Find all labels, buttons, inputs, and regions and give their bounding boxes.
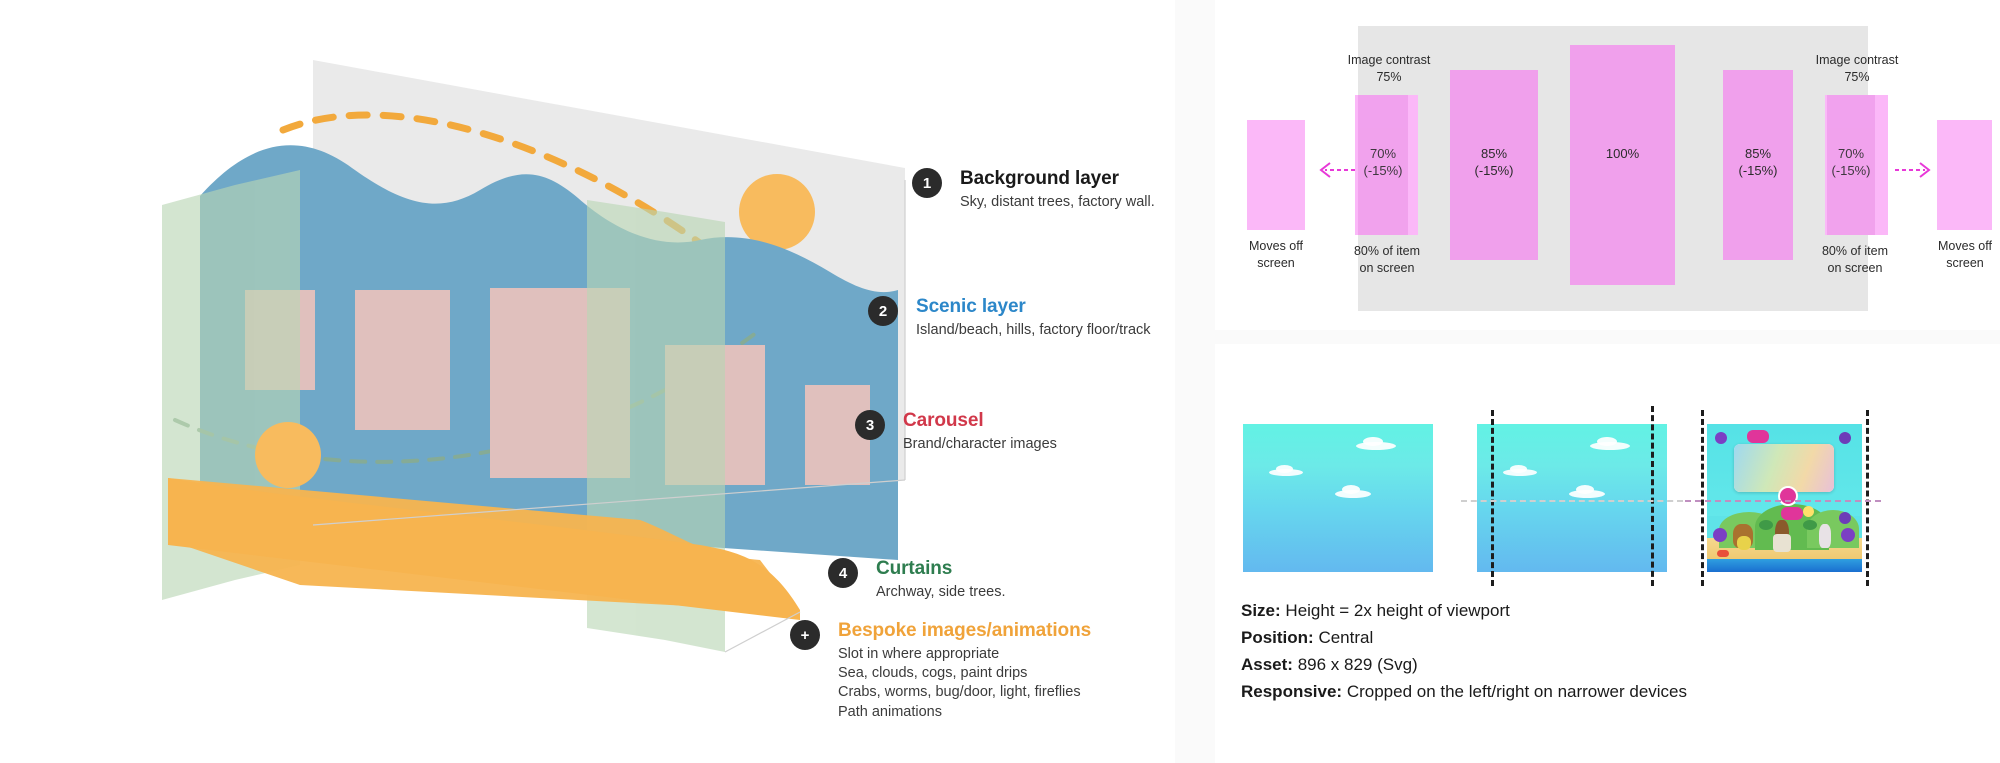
callout-badge: 3 bbox=[855, 410, 885, 440]
carousel-next-button[interactable] bbox=[1841, 528, 1855, 542]
thumbnail-plain-sky[interactable] bbox=[1243, 424, 1433, 572]
spec-row-position: Position: Central bbox=[1241, 625, 1961, 652]
carousel-spec-card: Moves off screen 70% (-15%) 80% of item … bbox=[1215, 0, 2000, 330]
thumbnail-sky-with-crop-guides[interactable] bbox=[1477, 424, 1667, 572]
carousel-contrast-note-left: Image contrast 75% bbox=[1335, 52, 1443, 86]
callout-badge: 1 bbox=[912, 168, 942, 198]
sun-background bbox=[739, 174, 815, 250]
spec-value: Cropped on the left/right on narrower de… bbox=[1342, 682, 1687, 701]
cloud-icon bbox=[1276, 465, 1293, 473]
layer-breakdown-panel: 1 Background layer Sky, distant trees, f… bbox=[0, 0, 1175, 763]
spec-key: Asset: bbox=[1241, 655, 1293, 674]
character-figure bbox=[1819, 524, 1831, 548]
callout-curtains[interactable]: 4 Curtains Archway, side trees. bbox=[828, 558, 1005, 602]
callout-badge: 2 bbox=[868, 296, 898, 326]
centre-guide-horizontal-illustration bbox=[1685, 500, 1881, 502]
spec-row-asset: Asset: 896 x 829 (Svg) bbox=[1241, 652, 1961, 679]
callout-badge-plus: + bbox=[790, 620, 820, 650]
carousel-item-label: 85% (-15%) bbox=[1450, 145, 1538, 179]
carousel-item-second-right[interactable]: 85% (-15%) bbox=[1723, 70, 1793, 260]
carousel-prev-button[interactable] bbox=[1713, 528, 1727, 542]
callout-subtitle: Sky, distant trees, factory wall. bbox=[960, 193, 1155, 212]
carousel-item-label: 70% (-15%) bbox=[1358, 145, 1408, 179]
crop-guide-right bbox=[1651, 406, 1654, 586]
promo-card-image bbox=[1734, 444, 1834, 492]
carousel-caption-entering-right: 80% of item on screen bbox=[1805, 243, 1905, 277]
spec-value: Height = 2x height of viewport bbox=[1281, 601, 1510, 620]
layer-diagram-illustration: 1 Background layer Sky, distant trees, f… bbox=[0, 0, 1175, 763]
callout-background-layer[interactable]: 1 Background layer Sky, distant trees, f… bbox=[912, 168, 1155, 212]
callout-subtitle: Brand/character images bbox=[903, 435, 1057, 454]
spec-row-responsive: Responsive: Cropped on the left/right on… bbox=[1241, 679, 1961, 706]
thumbnail-full-illustration[interactable] bbox=[1707, 424, 1862, 572]
palm-tree-icon bbox=[1803, 520, 1817, 530]
sky-gradient bbox=[1477, 424, 1667, 572]
sun-bespoke bbox=[255, 422, 321, 488]
carousel-item-offscreen-right[interactable] bbox=[1937, 120, 1992, 230]
spec-row-size: Size: Height = 2x height of viewport bbox=[1241, 598, 1961, 625]
callout-text: Scenic layer Island/beach, hills, factor… bbox=[916, 296, 1151, 340]
cloud-icon bbox=[1363, 437, 1383, 446]
page-root: 1 Background layer Sky, distant trees, f… bbox=[0, 0, 2000, 763]
carousel-item-entering-left[interactable]: 70% (-15%) bbox=[1358, 95, 1408, 235]
callout-bespoke[interactable]: + Bespoke images/animations Slot in wher… bbox=[790, 620, 1091, 722]
background-spec-card: Size: Height = 2x height of viewport Pos… bbox=[1215, 344, 2000, 763]
carousel-item-offscreen-left[interactable] bbox=[1247, 120, 1305, 230]
callout-text: Background layer Sky, distant trees, fac… bbox=[960, 168, 1155, 212]
callout-scenic-layer[interactable]: 2 Scenic layer Island/beach, hills, fact… bbox=[868, 296, 1151, 340]
carousel-item-second-left[interactable]: 85% (-15%) bbox=[1450, 70, 1538, 260]
background-spec-list: Size: Height = 2x height of viewport Pos… bbox=[1241, 598, 1961, 705]
spec-key: Responsive: bbox=[1241, 682, 1342, 701]
spec-value: Central bbox=[1314, 628, 1374, 647]
carousel-item-entering-right[interactable]: 70% (-15%) bbox=[1827, 95, 1875, 235]
carousel-items-row: Moves off screen 70% (-15%) 80% of item … bbox=[1215, 0, 2000, 330]
brand-chip[interactable] bbox=[1747, 430, 1769, 443]
palm-tree-icon bbox=[1759, 520, 1773, 530]
cloud-icon bbox=[1597, 437, 1617, 446]
callout-text: Bespoke images/animations Slot in where … bbox=[838, 620, 1091, 722]
cloud-icon bbox=[1510, 465, 1527, 473]
callout-subtitle: Island/beach, hills, factory floor/track bbox=[916, 321, 1151, 340]
callout-badge: 4 bbox=[828, 558, 858, 588]
carousel-caption-entering-left: 80% of item on screen bbox=[1337, 243, 1437, 277]
spec-value: 896 x 829 (Svg) bbox=[1293, 655, 1418, 674]
arrow-left-icon bbox=[1315, 158, 1357, 182]
crop-guide-left-illustration bbox=[1701, 410, 1704, 586]
character-figure bbox=[1773, 534, 1791, 552]
panel-gutter bbox=[1175, 0, 1215, 763]
crab-icon bbox=[1717, 550, 1729, 557]
carousel-item-label: 85% (-15%) bbox=[1723, 145, 1793, 179]
callout-subtitle: Archway, side trees. bbox=[876, 583, 1005, 602]
brand-chip[interactable] bbox=[1781, 507, 1803, 520]
callout-text: Curtains Archway, side trees. bbox=[876, 558, 1005, 602]
spec-key: Size: bbox=[1241, 601, 1281, 620]
sky-gradient bbox=[1243, 424, 1433, 572]
callout-title: Background layer bbox=[960, 168, 1155, 190]
cloud-icon bbox=[1342, 485, 1360, 494]
crop-guide-left bbox=[1491, 410, 1494, 586]
callout-title: Curtains bbox=[876, 558, 1005, 580]
settings-icon[interactable] bbox=[1839, 512, 1851, 524]
centre-guide-horizontal bbox=[1461, 500, 1683, 502]
callout-title: Bespoke images/animations bbox=[838, 620, 1091, 642]
menu-icon[interactable] bbox=[1715, 432, 1727, 444]
callout-subtitle: Slot in where appropriate Sea, clouds, c… bbox=[838, 645, 1091, 722]
crop-guide-right-illustration bbox=[1866, 410, 1869, 586]
sun-icon bbox=[1803, 506, 1814, 517]
settings-icon[interactable] bbox=[1839, 432, 1851, 444]
carousel-caption-offscreen-right: Moves off screen bbox=[1915, 238, 2000, 272]
callout-text: Carousel Brand/character images bbox=[903, 410, 1057, 454]
callout-carousel[interactable]: 3 Carousel Brand/character images bbox=[855, 410, 1057, 454]
right-column: Moves off screen 70% (-15%) 80% of item … bbox=[1215, 0, 2000, 763]
illustration-sea bbox=[1707, 559, 1862, 572]
carousel-item-label: 100% bbox=[1570, 145, 1675, 162]
callout-title: Carousel bbox=[903, 410, 1057, 432]
cloud-icon bbox=[1576, 485, 1594, 494]
carousel-contrast-note-right: Image contrast 75% bbox=[1803, 52, 1911, 86]
carousel-item-label: 70% (-15%) bbox=[1827, 145, 1875, 179]
carousel-item-centre[interactable]: 100% bbox=[1570, 45, 1675, 285]
character-figure bbox=[1737, 536, 1751, 550]
card-divider bbox=[1215, 330, 2000, 344]
callout-title: Scenic layer bbox=[916, 296, 1151, 318]
download-button[interactable] bbox=[1778, 486, 1798, 506]
carousel-caption-offscreen-left: Moves off screen bbox=[1225, 238, 1327, 272]
promo-card[interactable] bbox=[1734, 444, 1834, 492]
carousel-item bbox=[355, 290, 450, 430]
arrow-right-icon bbox=[1893, 158, 1935, 182]
spec-key: Position: bbox=[1241, 628, 1314, 647]
